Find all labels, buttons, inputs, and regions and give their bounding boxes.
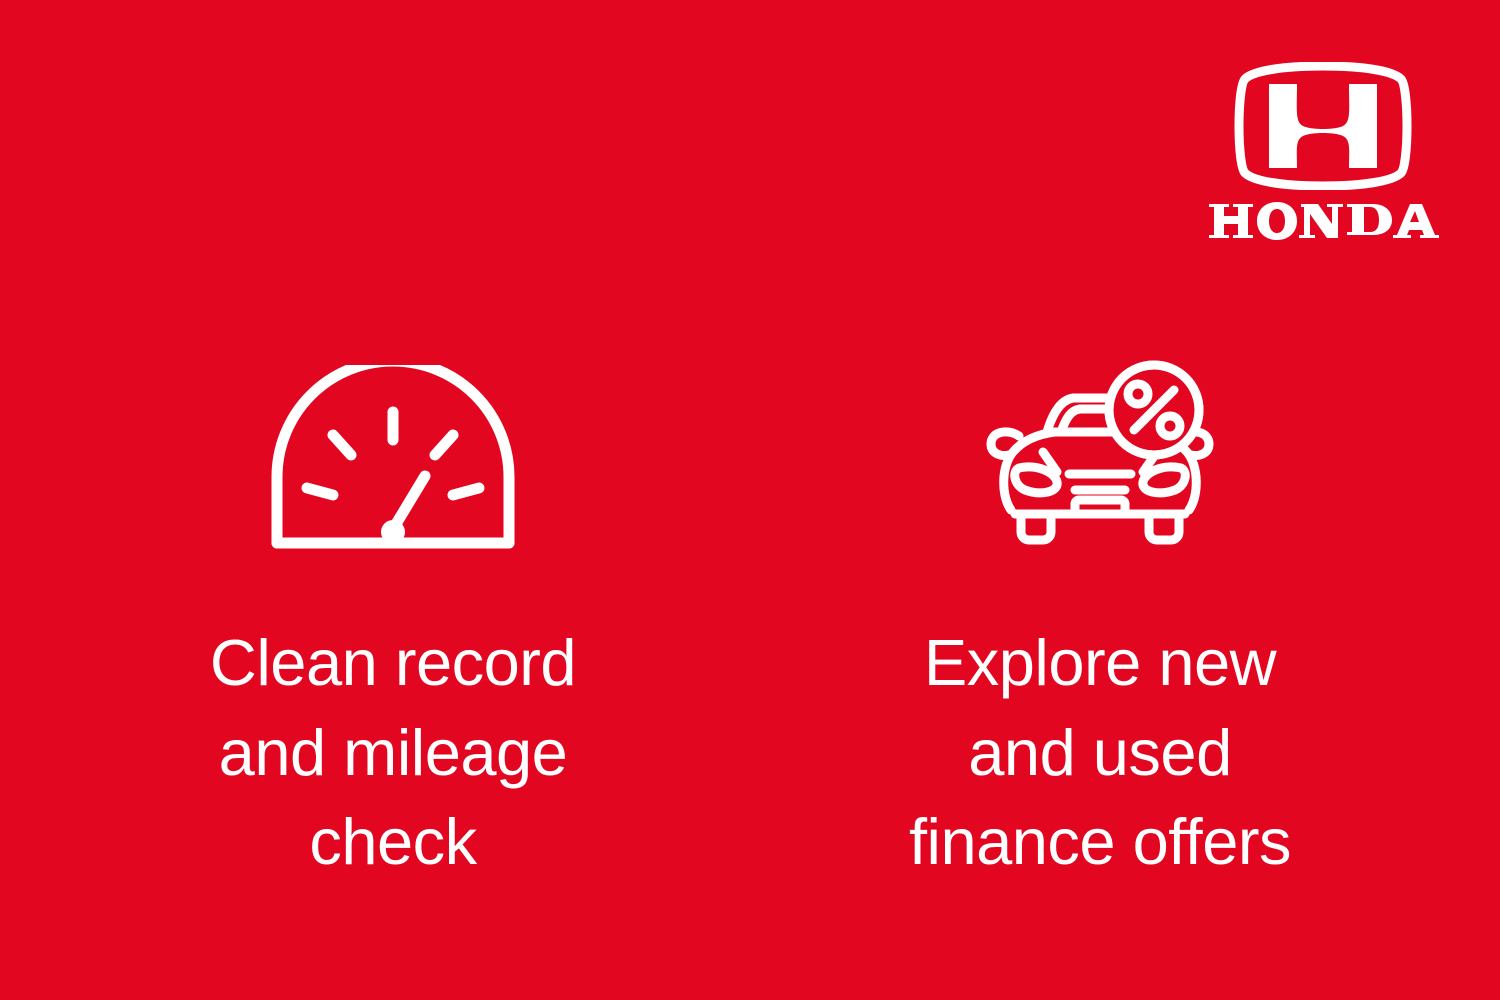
feature-explore-new-and-used-finance-offers: Explore new and used finance offers	[885, 360, 1315, 887]
speedometer-icon	[263, 365, 523, 555]
feature-icon-wrapper	[263, 360, 523, 560]
car-front-with-percent-badge-icon	[975, 360, 1225, 560]
feature-clean-record-and-mileage-check: Clean record and mileage check	[178, 360, 608, 887]
promo-banner: Clean record and mileage check	[0, 0, 1500, 1000]
feature-caption: Clean record and mileage check	[178, 618, 608, 887]
feature-list: Clean record and mileage check	[0, 0, 1500, 1000]
feature-caption: Explore new and used finance offers	[885, 618, 1315, 887]
feature-icon-wrapper	[975, 360, 1225, 560]
